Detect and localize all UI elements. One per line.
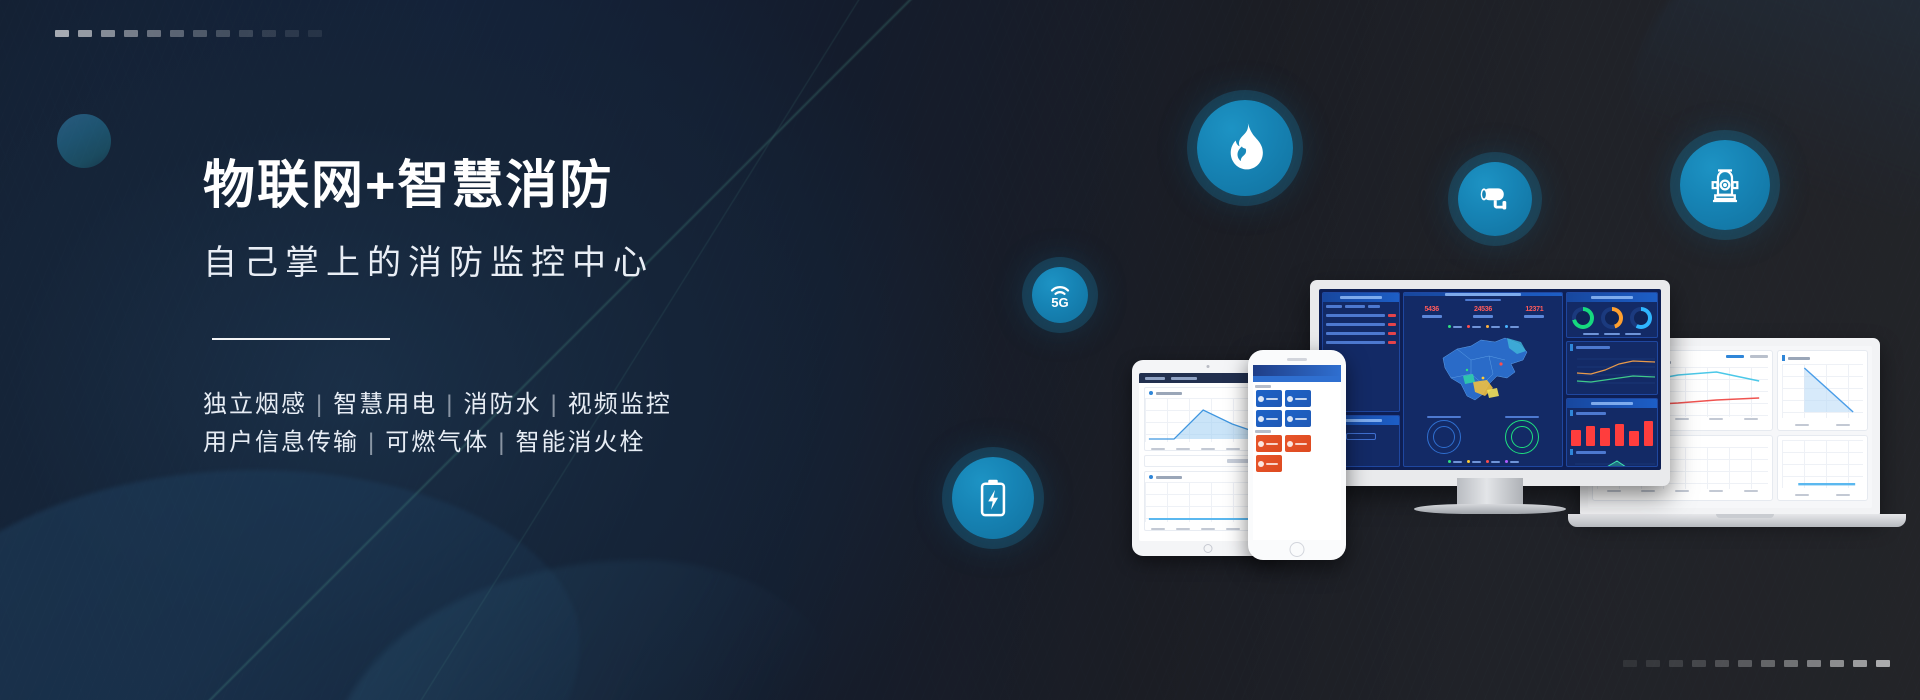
legend-item [1448,460,1462,463]
battery-glyph [977,477,1009,519]
mobile-phone[interactable] [1248,350,1346,560]
tile-icon [1287,416,1293,422]
card-title-placeholder [1156,476,1182,479]
decorative-dash [1623,660,1637,667]
svg-text:5G: 5G [1051,295,1069,310]
feature-separator: | [307,391,333,418]
legend-item [1505,460,1519,463]
phone-sub-header [1253,376,1341,382]
gauge-widget [1630,307,1652,329]
card-title-placeholder [1156,392,1182,395]
legend-item [1467,460,1481,463]
legend-item [1486,460,1500,463]
radar-widget [1427,420,1461,454]
list-item[interactable] [1285,435,1311,452]
decorative-dash [55,30,69,37]
feature-item[interactable]: 视频监控 [568,391,672,418]
monitor-gauge-panel [1566,292,1658,338]
monitor-screen: 5436 24536 12371 [1319,289,1661,470]
panel-title-placeholder [1340,419,1382,422]
phone-group-label-2 [1255,430,1271,433]
feature-item[interactable]: 独立烟感 [203,391,307,418]
laptop-decline-area-chart [1782,364,1863,418]
kpi-item: 12371 [1524,306,1544,318]
desktop-monitor[interactable]: 5436 24536 12371 [1310,280,1670,510]
feature-separator: | [489,429,515,456]
legend-item [1505,325,1519,328]
monitor-kpi-row: 5436 24536 12371 [1404,301,1562,323]
page-title: 物联网+智慧消防 [203,160,843,212]
kpi-value: 24536 [1474,306,1492,313]
monitor-line-chart [1567,353,1657,389]
feature-separator: | [437,391,463,418]
monitor-radar-left [1408,416,1480,456]
decorative-dash [1876,660,1890,667]
feature-item[interactable]: 可燃气体 [385,429,489,456]
feature-row-2: 用户信息传输|可燃气体|智能消火栓 [203,424,843,462]
decorative-dash [1761,660,1775,667]
tab-active[interactable] [1726,355,1744,358]
fire-hydrant-icon[interactable] [1680,140,1770,230]
decorative-dash [124,30,138,37]
list-item[interactable] [1256,435,1282,452]
table-row [1323,338,1399,347]
decorative-dashes-bottom-right [1623,660,1890,667]
cctv-camera-icon[interactable] [1458,162,1532,236]
feature-separator: | [541,391,567,418]
gauge-widget [1601,307,1623,329]
panel-title-placeholder [1340,296,1382,299]
list-item[interactable] [1285,410,1311,427]
card-dot-icon [1149,391,1153,395]
device-mockups: 5436 24536 12371 [1110,280,1920,580]
tablet-camera-icon [1207,365,1210,368]
decorative-dash [1669,660,1683,667]
list-item[interactable] [1256,390,1282,407]
camera-glyph [1477,184,1513,214]
monitor-center-column: 5436 24536 12371 [1403,292,1563,467]
decorative-dashes-top-left [55,30,322,37]
bottom-legend [1404,458,1562,466]
banner-copy: 物联网+智慧消防 自己掌上的消防监控中心 独立烟感|智慧用电|消防水|视频监控 … [203,160,843,462]
feature-item[interactable]: 智慧用电 [333,391,437,418]
flame-icon[interactable] [1197,100,1293,196]
panel-title-placeholder [1591,402,1633,405]
phone-tile-group-orange [1253,435,1341,472]
feature-item[interactable]: 消防水 [463,391,541,418]
decorative-dash [1784,660,1798,667]
background-orb-circle [57,114,111,168]
monitor-region-bar-chart [1567,418,1657,446]
decorative-dash [78,30,92,37]
monitor-frame: 5436 24536 12371 [1310,280,1670,486]
decorative-dash [1738,660,1752,667]
monitor-stand-base [1414,504,1566,514]
decorative-dash [262,30,276,37]
phone-home-button[interactable] [1290,542,1305,557]
background-blob-top-right [1630,0,1920,240]
laptop-notch [1716,514,1774,518]
monitor-map-panel: 5436 24536 12371 [1403,292,1563,467]
kpi-value: 12371 [1525,306,1543,313]
decorative-dash [170,30,184,37]
decorative-dash [239,30,253,37]
decorative-dash [1807,660,1821,667]
table-row [1323,311,1399,320]
decorative-dash [1715,660,1729,667]
page-subtitle: 自己掌上的消防监控中心 [203,246,843,280]
background-blob-bottom-left-2 [330,560,850,700]
decorative-dash [1646,660,1660,667]
monitor-radar-right [1486,416,1558,456]
monitor-bar-panel [1566,398,1658,467]
phone-tile-group-blue [1253,390,1341,427]
tablet-nav-item [1145,377,1165,380]
list-item[interactable] [1285,390,1311,407]
divider [212,338,390,340]
tile-icon [1258,416,1264,422]
laptop-flat-bar-chart [1782,440,1863,488]
tile-icon [1258,396,1264,402]
laptop-area-card [1777,350,1868,431]
tablet-home-button[interactable] [1204,544,1213,553]
kpi-item: 24536 [1473,306,1493,318]
tablet-nav-item [1171,377,1197,380]
phone-app-header [1253,365,1341,376]
decorative-dash [285,30,299,37]
map-legend [1404,323,1562,330]
tile-icon [1258,441,1264,447]
legend-item [1467,325,1481,328]
decorative-dash [1692,660,1706,667]
5g-glyph: 5G [1045,280,1075,310]
legend-item [1486,325,1500,328]
card-dot-icon [1149,475,1153,479]
china-map[interactable] [1404,330,1562,416]
china-map-glyph [1427,330,1539,416]
laptop-flat-card [1777,435,1868,501]
table-row [1323,320,1399,329]
feature-item[interactable]: 用户信息传输 [203,429,359,456]
hero-banner: 物联网+智慧消防 自己掌上的消防监控中心 独立烟感|智慧用电|消防水|视频监控 … [0,0,1920,700]
battery-bolt-icon[interactable] [952,457,1034,539]
radar-widget [1505,420,1539,454]
tab-inactive[interactable] [1750,355,1768,358]
monitor-right-column [1566,292,1658,467]
gauge-widget [1572,307,1594,329]
flame-glyph [1223,123,1267,173]
table-row [1323,329,1399,338]
decorative-dash [193,30,207,37]
monitor-trend-panel [1566,341,1658,395]
tile-icon [1287,396,1293,402]
list-item[interactable] [1256,455,1282,472]
decorative-dash [147,30,161,37]
panel-button-placeholder[interactable] [1346,433,1376,440]
decorative-dash [1853,660,1867,667]
decorative-dash [216,30,230,37]
hydrant-glyph [1706,164,1744,206]
phone-group-label [1255,385,1271,388]
decorative-dash [308,30,322,37]
phone-speaker-icon [1287,358,1307,361]
kpi-value: 5436 [1424,306,1438,313]
feature-item[interactable]: 智能消火栓 [515,429,645,456]
tile-icon [1287,441,1293,447]
feature-list: 独立烟感|智慧用电|消防水|视频监控 用户信息传输|可燃气体|智能消火栓 [203,386,843,462]
kpi-item: 5436 [1422,306,1442,318]
tile-icon [1258,461,1264,467]
gauge-row [1567,302,1657,331]
feature-separator: | [359,429,385,456]
5g-signal-icon[interactable]: 5G [1032,267,1088,323]
list-item[interactable] [1256,410,1282,427]
decorative-dash [101,30,115,37]
monitor-area-chart [1567,456,1657,467]
legend-item [1448,325,1462,328]
decorative-dash [1830,660,1844,667]
panel-title-placeholder [1591,296,1633,299]
background-blob-bottom-left [0,470,580,700]
phone-screen [1253,365,1341,540]
feature-row-1: 独立烟感|智慧用电|消防水|视频监控 [203,386,843,424]
